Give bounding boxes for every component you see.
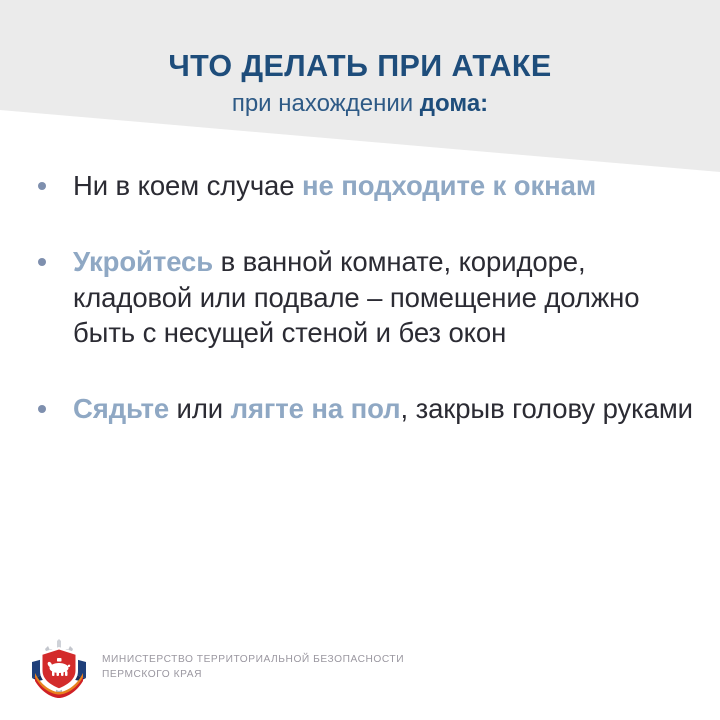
bullet-list: Ни в коем случае не подходите к окнам Ук… — [0, 168, 720, 427]
plain-text: Ни в коем случае — [73, 170, 302, 201]
footer-line-2: Пермского края — [102, 668, 404, 683]
header-banner-shape — [0, 0, 720, 180]
ministry-emblem-icon — [30, 638, 88, 698]
plain-text: , закрыв голову руками — [401, 393, 693, 424]
list-item: Укройтесь в ванной комнате, коридоре, кл… — [38, 244, 694, 351]
list-item-text: Укройтесь в ванной комнате, коридоре, кл… — [46, 244, 694, 351]
bullet-dot-icon — [38, 405, 46, 413]
poster-root: ЧТО ДЕЛАТЬ ПРИ АТАКЕ при нахождении дома… — [0, 0, 720, 720]
list-item: Ни в коем случае не подходите к окнам — [38, 168, 694, 204]
banner-polygon — [0, 0, 720, 172]
footer-organization-name: Министерство территориальной безопасност… — [102, 653, 404, 683]
shield-icon — [40, 647, 78, 691]
footer: Министерство территориальной безопасност… — [30, 638, 404, 698]
emphasis-text: не подходите к окнам — [302, 170, 596, 201]
plain-text: или — [169, 393, 231, 424]
footer-line-1: Министерство территориальной безопасност… — [102, 654, 404, 665]
emphasis-text: Укройтесь — [73, 246, 213, 277]
emphasis-text: Сядьте — [73, 393, 169, 424]
bullet-dot-icon — [38, 182, 46, 190]
bullet-dot-icon — [38, 258, 46, 266]
list-item: Сядьте или лягте на пол, закрыв голову р… — [38, 391, 694, 427]
list-item-text: Сядьте или лягте на пол, закрыв голову р… — [46, 391, 694, 427]
list-item-text: Ни в коем случае не подходите к окнам — [46, 168, 694, 204]
emphasis-text: лягте на пол — [231, 393, 401, 424]
